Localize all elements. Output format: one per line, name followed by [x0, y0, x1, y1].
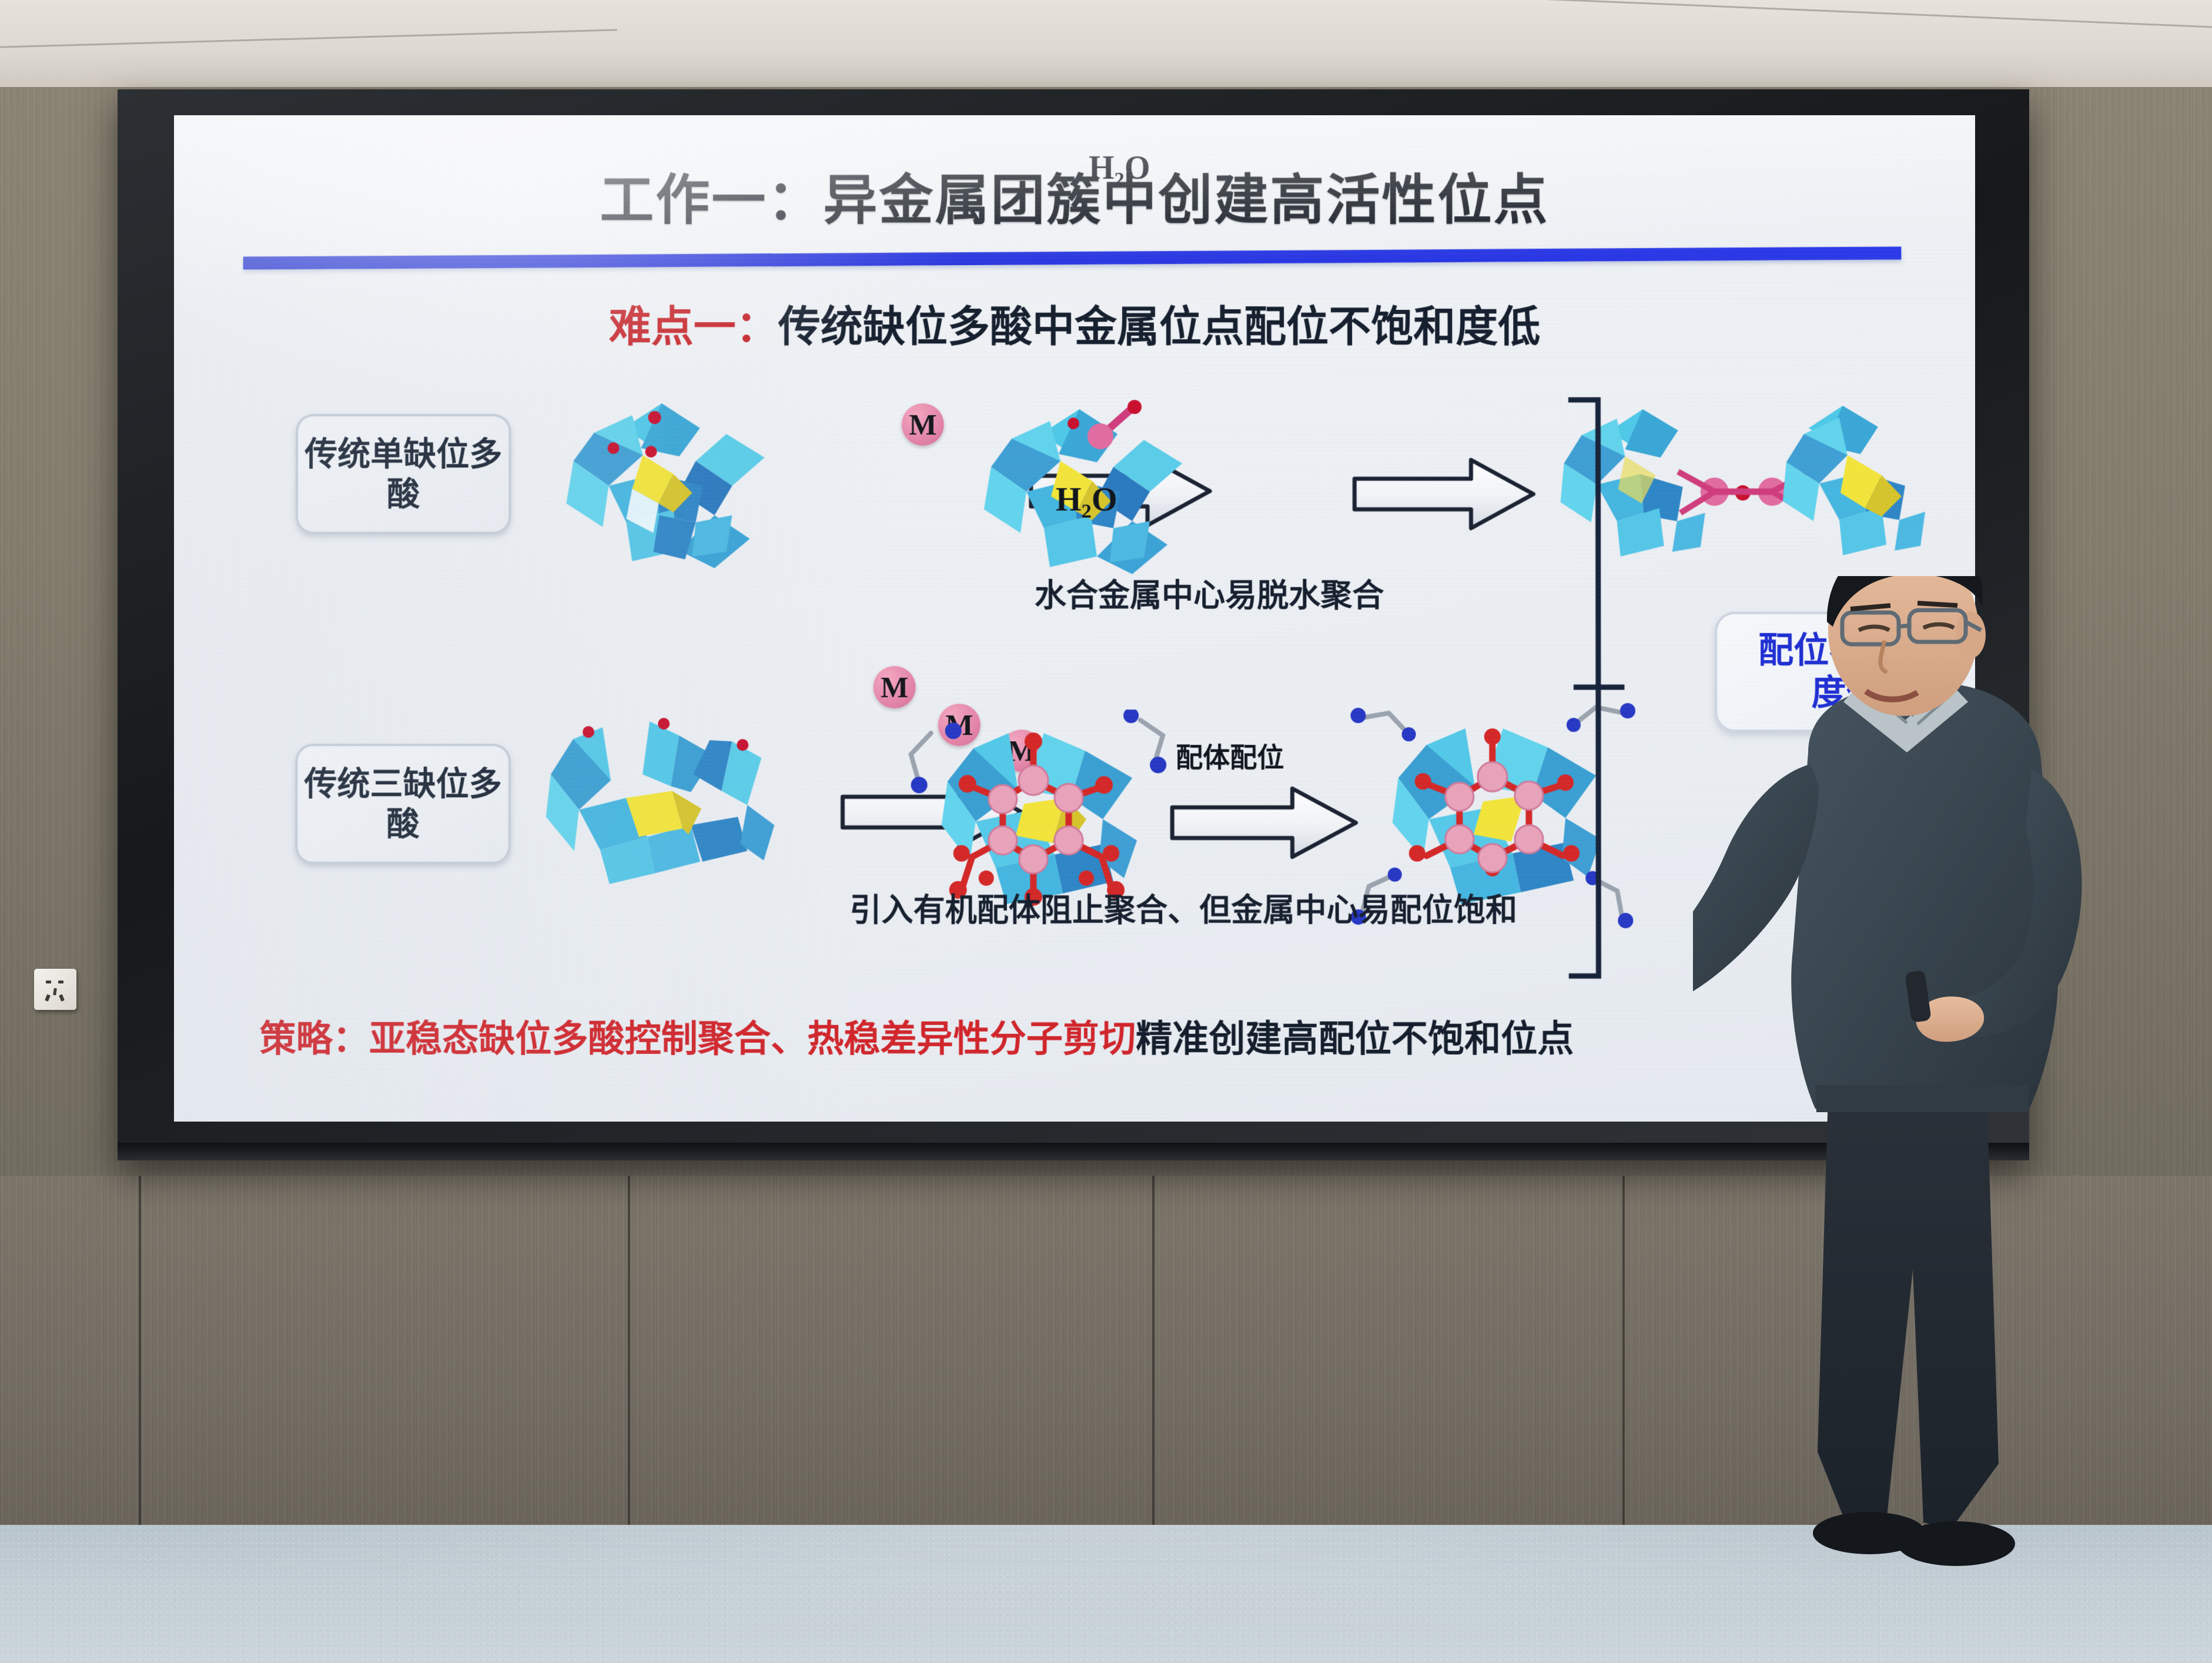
- slide-subtitle: 难点一：传统缺位多酸中金属位点配位不饱和度低: [174, 292, 1975, 353]
- ear: [1955, 611, 1986, 658]
- wall-panel-seam: [1152, 1176, 1154, 1540]
- caption-row1: 水合金属中心易脱水聚合: [1035, 570, 1384, 616]
- speaker-figure: [1693, 576, 2210, 1587]
- slide-title: 工作一：异金属团簇中创建高活性位点: [174, 156, 1975, 235]
- water-label-row1: H2O: [1089, 149, 1150, 191]
- metal-badge-m: M: [902, 403, 944, 446]
- strategy-dark: 精准创建高配位不饱和位点: [1136, 1019, 1574, 1060]
- label-box-trivacant: 传统三缺位多酸: [295, 744, 511, 864]
- pom-cluster-monovacant: [538, 392, 785, 585]
- sweater: [1791, 683, 2058, 1109]
- pom-cluster-trivacant: [538, 704, 791, 898]
- strategy-red-2: 热稳差异性分子剪切: [807, 1019, 1136, 1060]
- arrow-label-ligand: 配体配位: [1176, 736, 1284, 775]
- sweater-hem: [1815, 1085, 2029, 1112]
- process-arrow-2: [1350, 450, 1538, 538]
- eyebrow-right: [1917, 603, 1957, 605]
- power-outlet[interactable]: [34, 969, 76, 1010]
- strategy-red-1: 亚稳态缺位多酸控制聚合、: [369, 1019, 807, 1060]
- water-label-row2: H2O: [1056, 481, 1117, 523]
- subtitle-prefix: 难点一：: [609, 303, 778, 350]
- ceiling: [0, 0, 2212, 88]
- wall-panel-seam: [628, 1176, 630, 1540]
- title-underline-bar: [243, 246, 1902, 269]
- strategy-prefix: 策略：: [260, 1019, 369, 1060]
- label-box-monovacant: 传统单缺位多酸: [296, 414, 511, 534]
- presentation-photo-scene: 工作一：异金属团簇中创建高活性位点 难点一：传统缺位多酸中金属位点配位不饱和度低…: [0, 0, 2212, 1663]
- wall-panel-seam: [1622, 1176, 1625, 1540]
- trousers: [1818, 1093, 1999, 1528]
- shoe-right: [1898, 1521, 2015, 1566]
- process-arrow-4: [1167, 779, 1361, 867]
- caption-row2: 引入有机配体阻止聚合、但金属中心易配位饱和: [849, 884, 1517, 931]
- metal-badge-m: M: [874, 666, 916, 708]
- wall-panel-seam: [139, 1176, 141, 1540]
- subtitle-text: 传统缺位多酸中金属位点配位不饱和度低: [778, 303, 1541, 350]
